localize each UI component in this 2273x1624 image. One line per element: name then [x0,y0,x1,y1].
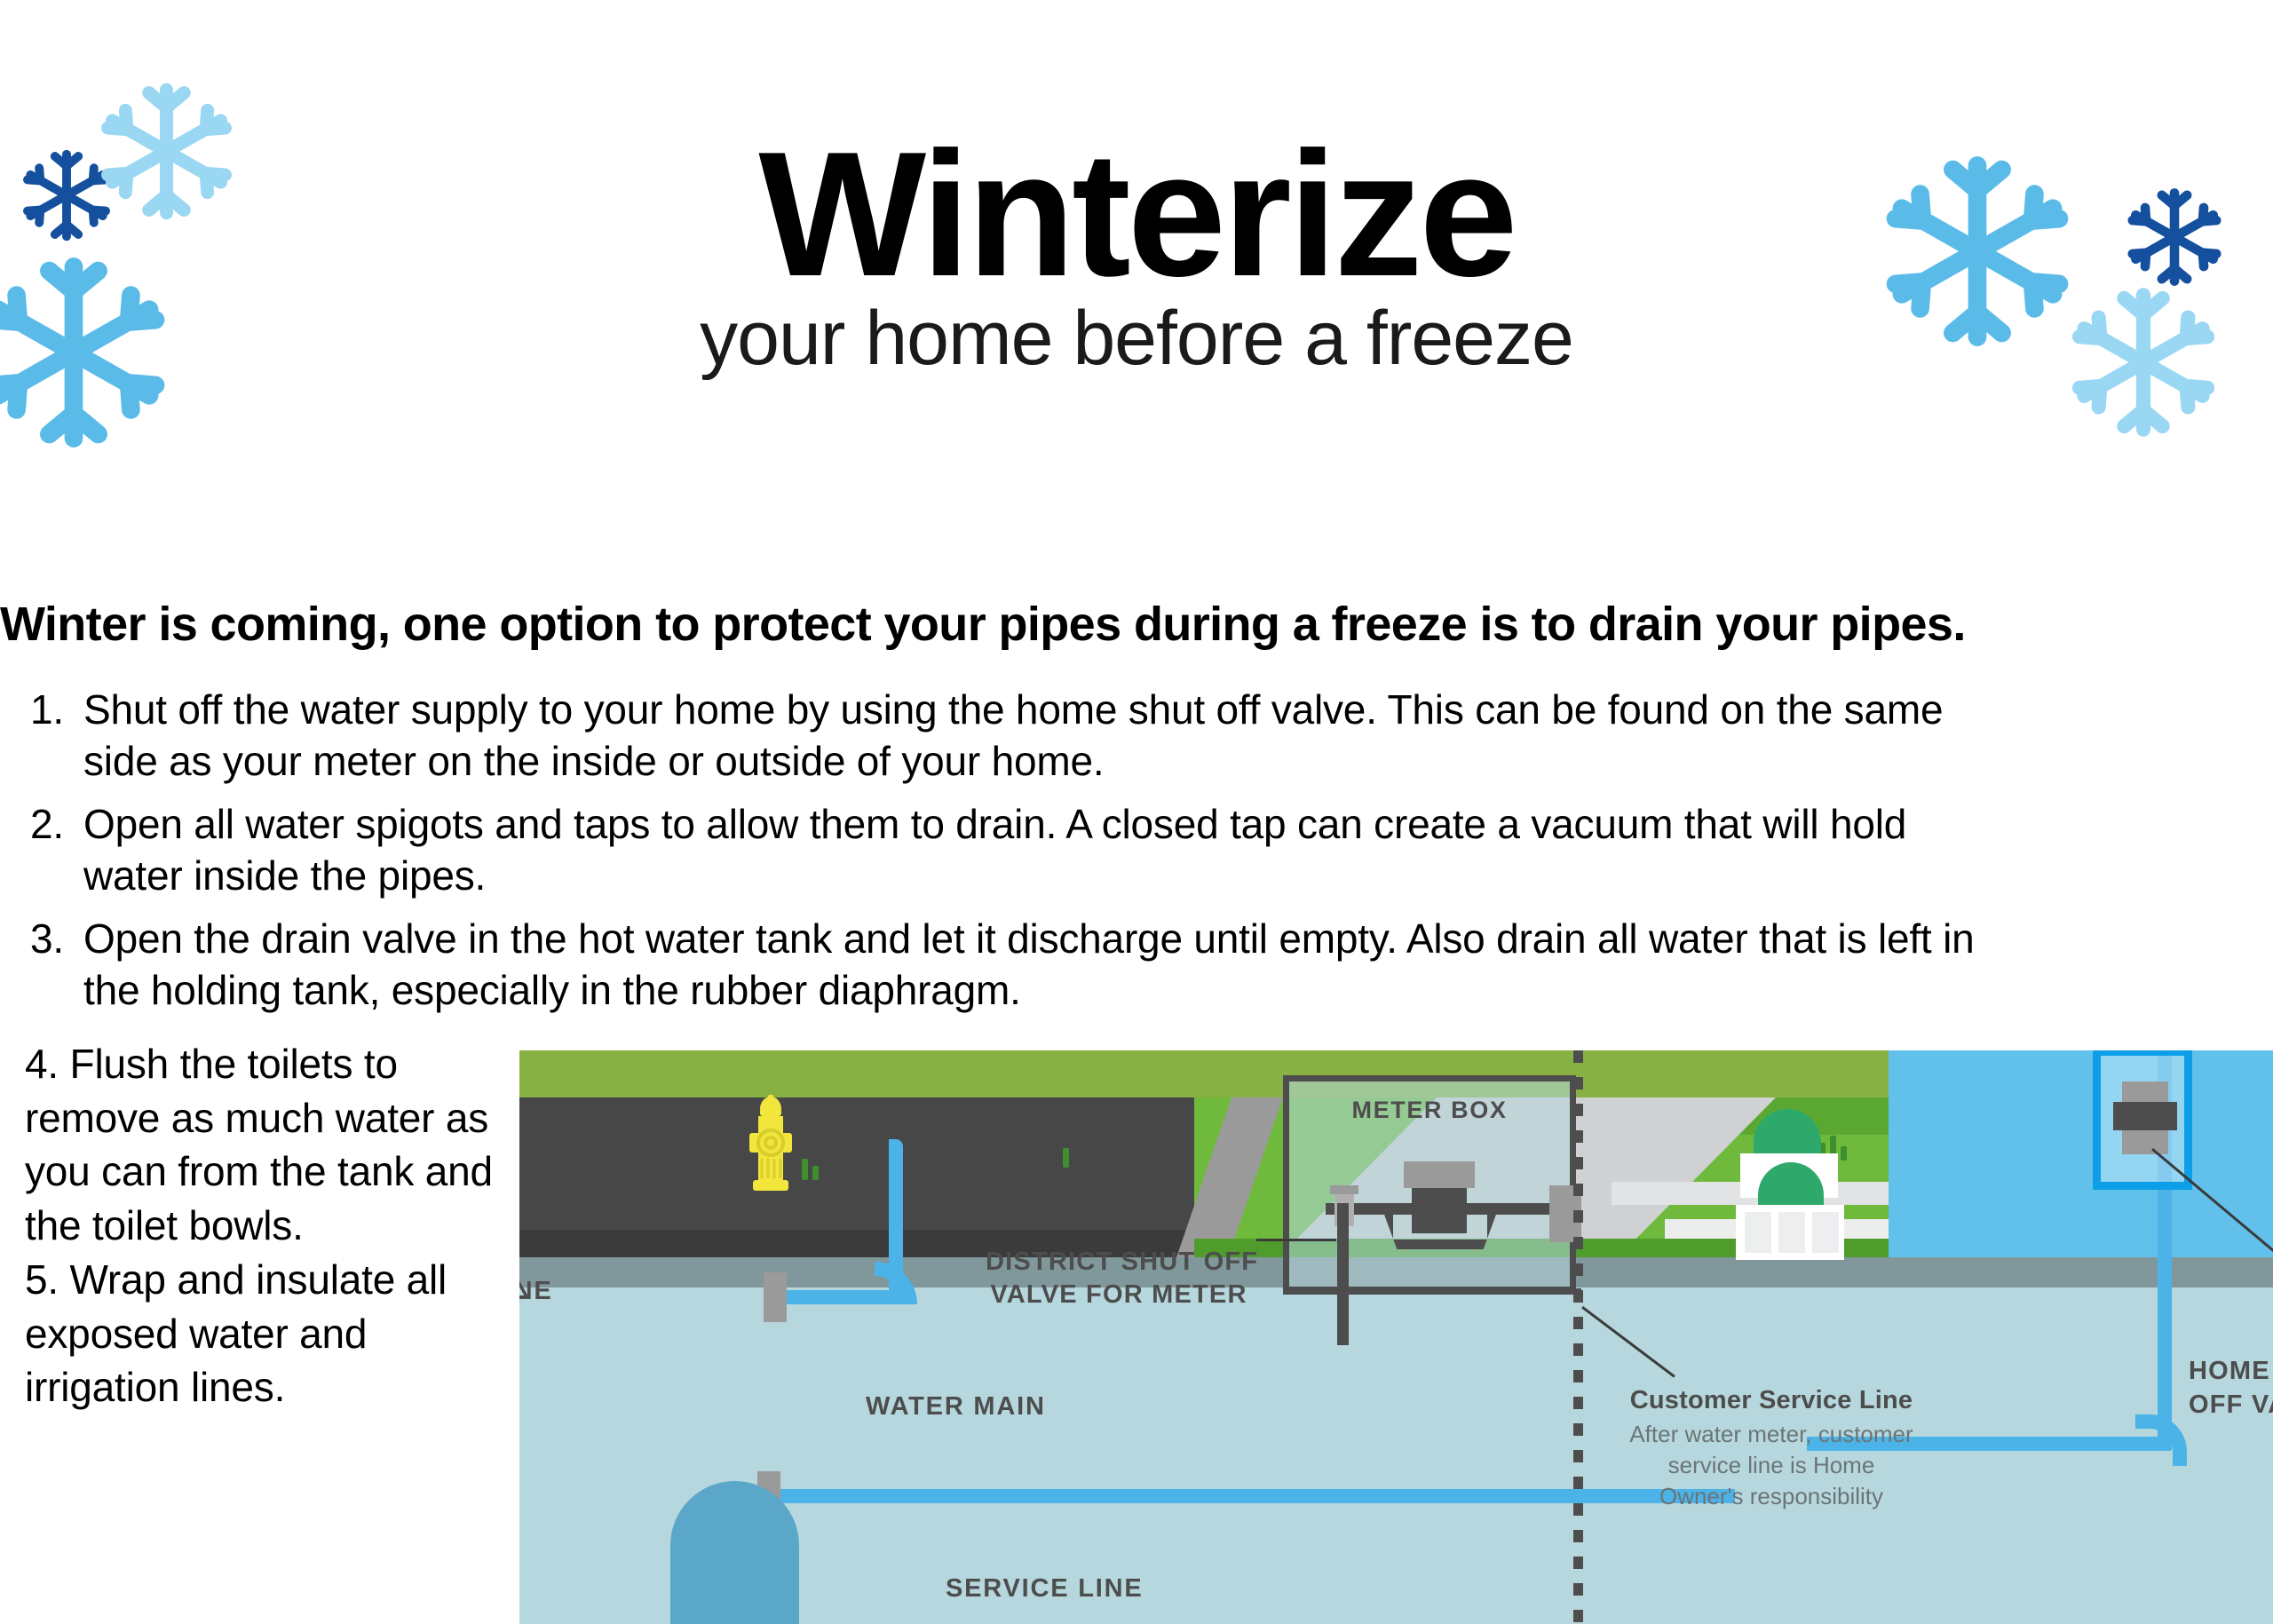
fence-slat [1778,1212,1805,1253]
home-shutoff-label-line1: HOME SHUT [2189,1357,2273,1385]
meter-box-label: METER BOX [1310,1097,1549,1124]
service-line-pipe [776,1489,1735,1503]
house-illustration [1842,1050,2273,1257]
district-shutoff-label: DISTRICT SHUT OFF VALVE FOR METER [986,1246,1252,1311]
home-shutoff-label: HOME SHUT OFF VALVE [2189,1355,2273,1422]
hydrant-label-leader [519,1295,526,1299]
list-item-text: Open all water spigots and taps to allow… [83,801,1906,899]
customer-service-callout: Customer Service Line After water meter,… [1625,1386,1918,1511]
intro-heading: Winter is coming, one option to protect … [0,597,2246,652]
steps-extra-block: 4. Flush the toilets to remove as much w… [25,1037,518,1414]
list-item: 1.Shut off the water supply to your home… [30,684,1984,788]
steps-list: 1.Shut off the water supply to your home… [30,684,1984,1026]
home-shutoff-label-line2: OFF VALVE [2189,1390,2273,1419]
page-title: Winterize [0,133,2273,297]
underground-tank [670,1481,799,1624]
grass-tuft [1063,1148,1069,1168]
list-item: 4. Flush the toilets to remove as much w… [25,1037,518,1253]
water-system-diagram: METER BOX HYDRANT LINE WATER MAIN SERVIC… [519,1050,2273,1624]
list-item-text: Shut off the water supply to your home b… [83,686,1943,784]
hydrant-line-label: HYDRANT LINE [519,1277,553,1306]
list-item: 2.Open all water spigots and taps to all… [30,798,1984,902]
grass-tuft [812,1166,819,1180]
fire-hydrant-icon [746,1093,796,1208]
fence-slat [1812,1212,1839,1253]
list-item-number: 3. [30,913,76,964]
header-banner: Winterize your home before a freeze [0,0,2273,551]
district-label-leader [1256,1239,1336,1241]
ownership-boundary-dashed-line [1573,1050,1583,1624]
district-shutoff-label-line1: DISTRICT SHUT OFF [986,1248,1258,1276]
page-subtitle: your home before a freeze [0,300,2273,376]
customer-service-callout-body: After water meter, customer service line… [1625,1419,1918,1511]
list-item: 5. Wrap and insulate all exposed water a… [25,1253,518,1414]
water-meter-body [1412,1182,1467,1233]
list-item: 3.Open the drain valve in the hot water … [30,913,1984,1017]
customer-service-callout-title: Customer Service Line [1625,1386,1918,1415]
list-item-number: 1. [30,684,76,735]
title-block: Winterize your home before a freeze [0,133,2273,376]
home-shutoff-valve-band [2113,1102,2177,1130]
fence-slat [1745,1212,1771,1253]
meter-box-bottom [1283,1288,1581,1295]
district-shutoff-label-line2: VALVE FOR METER [990,1280,1247,1309]
water-meter-cap [1404,1161,1475,1188]
list-item-text: Open the drain valve in the hot water ta… [83,915,1975,1013]
water-main-label: WATER MAIN [866,1392,1046,1422]
district-shutoff-stem [1337,1203,1349,1345]
house-wall [1889,1050,2273,1257]
meter-inlet-cap [1330,1185,1358,1194]
hydrant-line-valve [764,1272,787,1322]
service-line-label: SERVICE LINE [946,1574,1144,1604]
grass-tuft [802,1159,808,1180]
list-item-number: 2. [30,798,76,850]
